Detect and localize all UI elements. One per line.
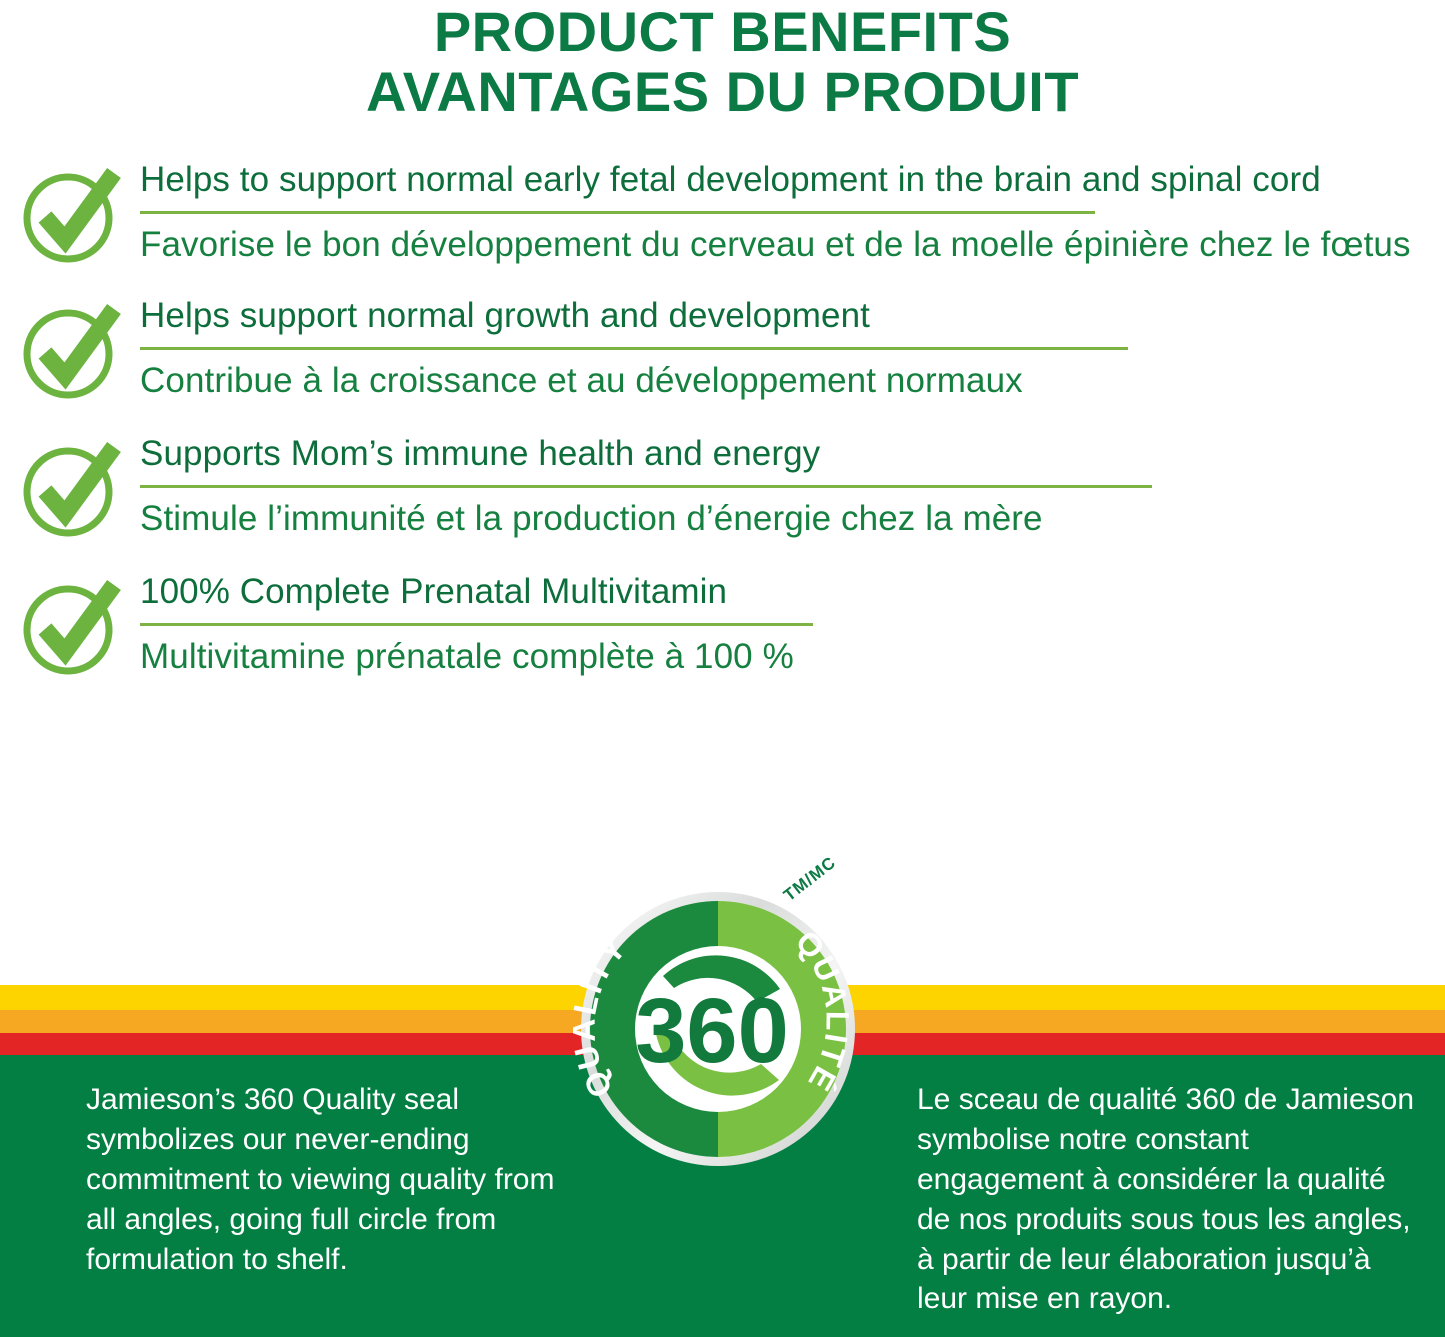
benefit-text-group: Helps support normal growth and developm… <box>140 294 1445 403</box>
seal-description-en: Jamieson’s 360 Quality seal symbolizes o… <box>86 1080 556 1279</box>
benefit-divider <box>140 623 813 626</box>
check-circle-icon <box>0 432 140 542</box>
check-circle-icon <box>0 570 140 680</box>
benefit-text-group: Helps to support normal early fetal deve… <box>140 158 1445 267</box>
benefit-text-fr: Multivitamine prénatale complète à 100 % <box>140 635 1425 679</box>
benefit-text-en: 100% Complete Prenatal Multivitamin <box>140 570 1425 614</box>
benefit-divider <box>140 347 1128 350</box>
benefit-text-en: Supports Mom’s immune health and energy <box>140 432 1425 476</box>
benefit-item: 100% Complete Prenatal Multivitamin Mult… <box>0 570 1445 680</box>
page-title-en: PRODUCT BENEFITS <box>0 2 1445 62</box>
check-circle-icon <box>0 294 140 404</box>
benefit-text-group: 100% Complete Prenatal Multivitamin Mult… <box>140 570 1445 679</box>
benefit-text-fr: Favorise le bon développement du cerveau… <box>140 223 1425 267</box>
benefit-divider <box>140 211 1095 214</box>
benefit-item: Supports Mom’s immune health and energy … <box>0 432 1445 542</box>
benefit-text-en: Helps to support normal early fetal deve… <box>140 158 1425 202</box>
benefit-item: Helps to support normal early fetal deve… <box>0 158 1445 268</box>
svg-text:°: ° <box>754 989 768 1030</box>
benefit-text-group: Supports Mom’s immune health and energy … <box>140 432 1445 541</box>
quality-360-seal-icon: 360 ° QUALITY QUALITÉ TM/MC <box>573 884 863 1174</box>
page-header: PRODUCT BENEFITS AVANTAGES DU PRODUIT <box>0 0 1445 122</box>
benefits-list: Helps to support normal early fetal deve… <box>0 158 1445 680</box>
benefit-item: Helps support normal growth and developm… <box>0 294 1445 404</box>
benefit-text-en: Helps support normal growth and developm… <box>140 294 1425 338</box>
seal-description-fr: Le sceau de qualité 360 de Jamieson symb… <box>917 1080 1417 1319</box>
page-title-fr: AVANTAGES DU PRODUIT <box>0 62 1445 122</box>
benefit-text-fr: Stimule l’immunité et la production d’én… <box>140 497 1425 541</box>
benefit-text-fr: Contribue à la croissance et au développ… <box>140 359 1425 403</box>
benefit-divider <box>140 485 1152 488</box>
product-benefits-panel: PRODUCT BENEFITS AVANTAGES DU PRODUIT He… <box>0 0 1445 1337</box>
check-circle-icon <box>0 158 140 268</box>
